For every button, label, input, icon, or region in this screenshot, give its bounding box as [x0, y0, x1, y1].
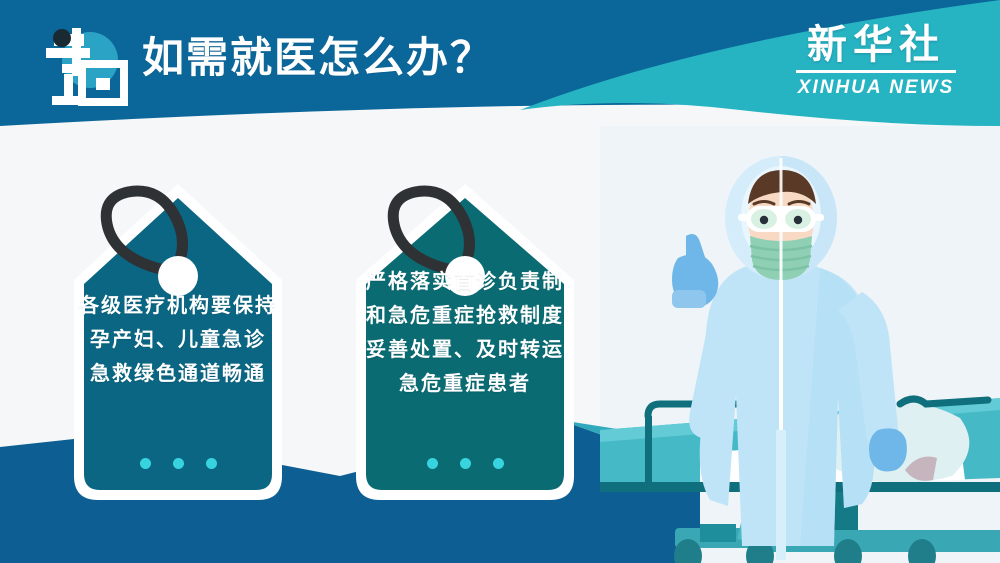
tag-2-line-4: 急危重症患者: [348, 366, 582, 400]
tag-1-dot-3: [206, 458, 217, 469]
worker-leg-gap: [776, 430, 786, 560]
medical-worker-ppe: [672, 156, 907, 560]
tag-2-dot-3: [493, 458, 504, 469]
xinhua-logo-cn: 新华社: [786, 22, 966, 68]
infographic-canvas: 各级医疗机构要保持 孕产妇、儿童急诊 急救绿色通道畅通 严格落实首诊负责制 和急…: [0, 0, 1000, 563]
tag-1-dot-1: [140, 458, 151, 469]
bed-rail-post-left: [645, 416, 652, 484]
header-band: 如需就医怎么办？ 新华社 XINHUA NEWS: [0, 0, 1000, 126]
tag-1-text-block: 各级医疗机构要保持 孕产妇、儿童急诊 急救绿色通道畅通: [66, 288, 290, 390]
goggle-strap-right: [814, 214, 824, 221]
bed-base-block: [700, 524, 736, 542]
worker-glove-right: [869, 428, 907, 471]
kepu-stroke-2: [46, 48, 90, 58]
tag-1-line-2: 孕产妇、儿童急诊: [66, 322, 290, 356]
xinhua-logo[interactable]: 新华社 XINHUA NEWS: [786, 22, 966, 108]
tag-1-line-1: 各级医疗机构要保持: [66, 288, 290, 322]
eye-left: [760, 216, 768, 224]
eye-right: [794, 216, 802, 224]
kepu-box-inner: [96, 78, 110, 90]
tag-2-line-1: 严格落实首诊负责制: [348, 264, 582, 298]
goggle-strap-left: [738, 214, 748, 221]
kepu-mark-art: [38, 24, 134, 106]
kepu-brand-mark[interactable]: [38, 24, 134, 106]
tag-2-line-2: 和急危重症抢救制度: [348, 298, 582, 332]
worker-glove-left: [672, 234, 718, 308]
worker-glove-cuff: [672, 290, 706, 308]
tag-2-dot-1: [427, 458, 438, 469]
xinhua-logo-rule: [796, 70, 956, 73]
tag-1-line-3: 急救绿色通道畅通: [66, 356, 290, 390]
info-tag-card-2[interactable]: 严格落实首诊负责制 和急危重症抢救制度 妥善处置、及时转运 急危重症患者: [348, 176, 582, 508]
tag-2-line-3: 妥善处置、及时转运: [348, 332, 582, 366]
info-tag-card-1[interactable]: 各级医疗机构要保持 孕产妇、儿童急诊 急救绿色通道畅通: [66, 176, 290, 508]
tag-2-dots: [348, 458, 582, 469]
tag-2-dot-2: [460, 458, 471, 469]
tag-2-text-block: 严格落实首诊负责制 和急危重症抢救制度 妥善处置、及时转运 急危重症患者: [348, 264, 582, 400]
page-title: 如需就医怎么办？: [142, 32, 494, 84]
kepu-stroke-6: [52, 96, 84, 105]
xinhua-logo-en: XINHUA NEWS: [786, 77, 966, 99]
tag-1-dot-2: [173, 458, 184, 469]
tag-1-dots: [66, 458, 290, 469]
kepu-dot: [53, 29, 71, 47]
